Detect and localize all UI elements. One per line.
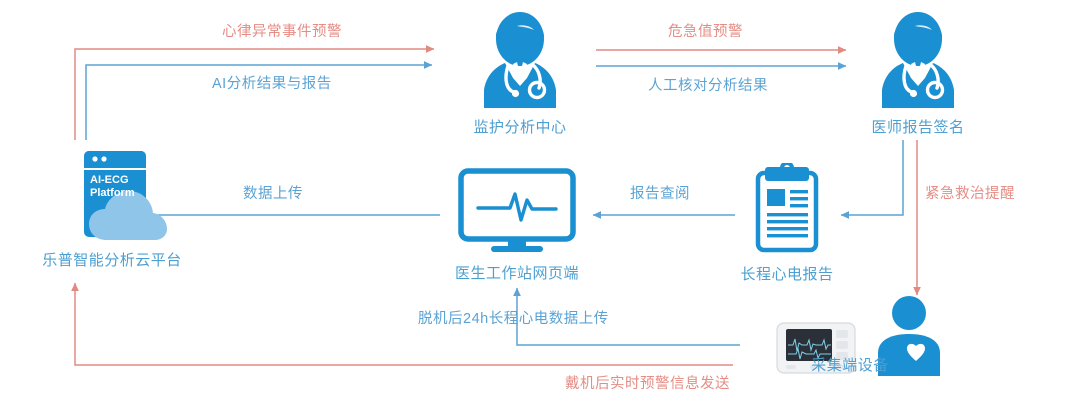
- node-cloud-platform[interactable]: AI-ECG Platform 乐普智能分析云平台: [12, 148, 212, 270]
- edge-realtime-alert-send-line: [75, 283, 733, 365]
- node-physician-sign[interactable]: 医师报告签名: [838, 8, 998, 137]
- clipboard-report-icon: [750, 163, 824, 255]
- node-collector-device[interactable]: 采集端设备: [760, 296, 960, 376]
- workflow-diagram: 心律异常事件预警 AI分析结果与报告 危急值预警 人工核对分析结果 数据上传 报…: [0, 0, 1080, 407]
- edge-label-emergency-reminder: 紧急救治提醒: [925, 182, 1015, 203]
- monitor-ecg-icon: [458, 168, 576, 253]
- edge-label-arrhythmia-alert: 心律异常事件预警: [222, 20, 342, 41]
- cloud-platform-icon: AI-ECG Platform: [56, 148, 168, 243]
- node-label-ecg-report: 长程心电报告: [712, 263, 862, 284]
- platform-badge-line1: AI-ECG: [90, 174, 135, 187]
- node-label-collector-device: 采集端设备: [760, 354, 940, 375]
- node-monitor-center[interactable]: 监护分析中心: [440, 8, 600, 137]
- edge-label-offline-24h-upload: 脱机后24h长程心电数据上传: [418, 307, 609, 328]
- edge-label-report-review: 报告查阅: [630, 182, 690, 203]
- edge-label-manual-verify: 人工核对分析结果: [648, 74, 768, 95]
- platform-badge: AI-ECG Platform: [90, 174, 135, 200]
- platform-badge-line2: Platform: [90, 187, 135, 200]
- doctor-icon: [477, 8, 563, 108]
- edge-arrhythmia-alert-line: [75, 49, 434, 140]
- node-label-monitor-center: 监护分析中心: [440, 116, 600, 137]
- physician-icon: [875, 8, 961, 108]
- node-label-doctor-workstation: 医生工作站网页端: [437, 262, 597, 283]
- node-label-physician-sign: 医师报告签名: [838, 116, 998, 137]
- node-ecg-report[interactable]: 长程心电报告: [712, 163, 862, 284]
- node-label-cloud-platform: 乐普智能分析云平台: [12, 249, 212, 270]
- node-doctor-workstation[interactable]: 医生工作站网页端: [437, 168, 597, 283]
- edge-label-critical-value: 危急值预警: [668, 20, 743, 41]
- edge-label-data-upload: 数据上传: [243, 182, 303, 203]
- edge-label-realtime-alert-send: 戴机后实时预警信息发送: [565, 372, 730, 393]
- edge-label-ai-analysis-report: AI分析结果与报告: [212, 72, 332, 93]
